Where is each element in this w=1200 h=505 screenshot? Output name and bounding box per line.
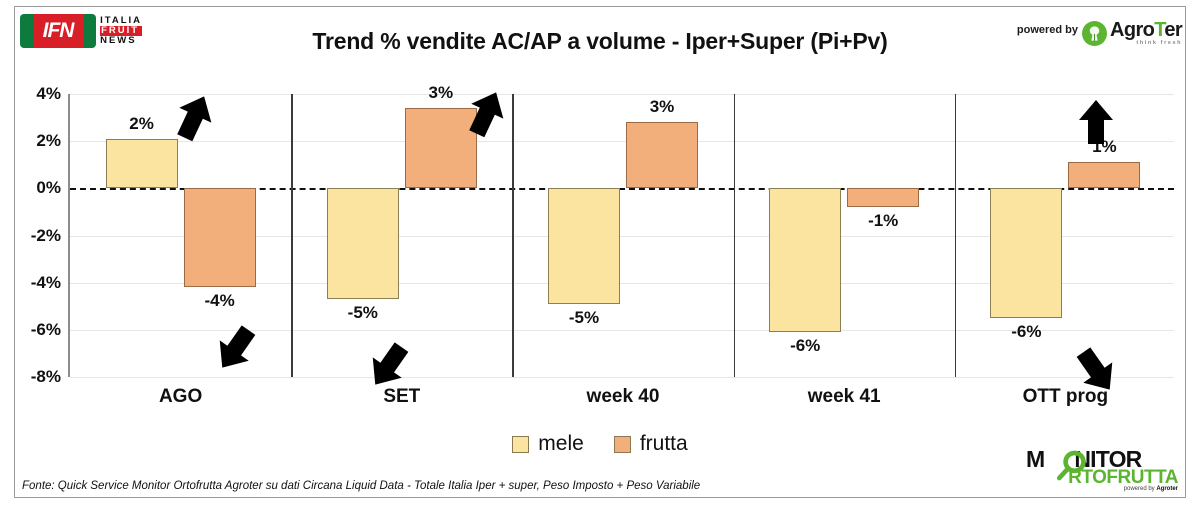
bar-mele-ott-prog[interactable] — [990, 188, 1062, 318]
y-axis-tick-label: -8% — [31, 367, 61, 387]
x-axis-label: SET — [383, 386, 420, 408]
bar-frutta-week-40[interactable] — [626, 122, 698, 188]
bar-frutta-set[interactable] — [405, 108, 477, 188]
gridline — [70, 94, 1174, 95]
bar-frutta-ago[interactable] — [184, 188, 256, 287]
group-separator — [291, 94, 293, 377]
bar-value-label: -5% — [569, 308, 599, 328]
powered-by-label: powered by — [1017, 24, 1078, 36]
bar-chart: 4%2%0%-2%-4%-6%-8%2%-4%AGO-5%3%SET-5%3%w… — [68, 94, 1174, 377]
tree-icon — [1082, 21, 1107, 46]
y-axis-tick-label: -6% — [31, 320, 61, 340]
agroter-name: AgroTer — [1110, 19, 1182, 41]
bar-value-label: -6% — [790, 336, 820, 356]
bar-mele-week-41[interactable] — [769, 188, 841, 332]
legend-swatch-frutta — [614, 436, 631, 453]
source-note: Fonte: Quick Service Monitor Ortofrutta … — [22, 480, 700, 492]
bar-value-label: -4% — [204, 291, 234, 311]
x-axis-label: week 40 — [587, 386, 660, 408]
bar-mele-week-40[interactable] — [548, 188, 620, 304]
y-axis-tick-label: -4% — [31, 273, 61, 293]
monitor-ortofrutta-logo: MNITOR RTOFRUTTA powered by Agroter — [1026, 448, 1178, 494]
y-axis-tick-label: 0% — [36, 178, 61, 198]
plot-area: 4%2%0%-2%-4%-6%-8%2%-4%AGO-5%3%SET-5%3%w… — [68, 94, 1174, 377]
bar-value-label: -1% — [868, 211, 898, 231]
monitor-powered-by: powered by Agroter — [1124, 486, 1178, 492]
legend-swatch-mele — [512, 436, 529, 453]
y-axis-tick-label: -2% — [31, 226, 61, 246]
x-axis-label: week 41 — [808, 386, 881, 408]
agroter-logo: AgroTer think fresh — [1082, 16, 1186, 50]
bar-frutta-ott-prog[interactable] — [1068, 162, 1140, 188]
bar-value-label: 1% — [1092, 137, 1117, 157]
y-axis-tick-label: 2% — [36, 131, 61, 151]
bar-value-label: -5% — [348, 303, 378, 323]
group-separator — [955, 94, 957, 377]
legend-label: frutta — [640, 432, 688, 456]
x-axis-label: OTT prog — [1023, 386, 1108, 408]
bar-mele-ago[interactable] — [106, 139, 178, 189]
group-separator — [512, 94, 514, 377]
bar-mele-set[interactable] — [327, 188, 399, 299]
gridline — [70, 377, 1174, 378]
legend-item-mele[interactable]: mele — [512, 432, 584, 456]
group-separator — [734, 94, 736, 377]
agroter-tagline: think fresh — [1110, 41, 1182, 47]
chart-page: IFN ITALIA FRUIT NEWS Trend % vendite AC… — [0, 0, 1200, 505]
legend-label: mele — [538, 432, 584, 456]
agroter-wordmark: AgroTer think fresh — [1110, 20, 1182, 47]
bar-frutta-week-41[interactable] — [847, 188, 919, 207]
gridline — [70, 141, 1174, 142]
gridline — [70, 330, 1174, 331]
legend-item-frutta[interactable]: frutta — [614, 432, 688, 456]
monitor-word2: RTOFRUTTA — [1068, 468, 1178, 487]
bar-value-label: 3% — [429, 83, 454, 103]
bar-value-label: -6% — [1011, 322, 1041, 342]
bar-value-label: 2% — [129, 114, 154, 134]
chart-legend: melefrutta — [0, 432, 1200, 456]
x-axis-label: AGO — [159, 386, 202, 408]
bar-value-label: 3% — [650, 97, 675, 117]
arrow-ago-mele — [168, 92, 220, 144]
y-axis-tick-label: 4% — [36, 84, 61, 104]
